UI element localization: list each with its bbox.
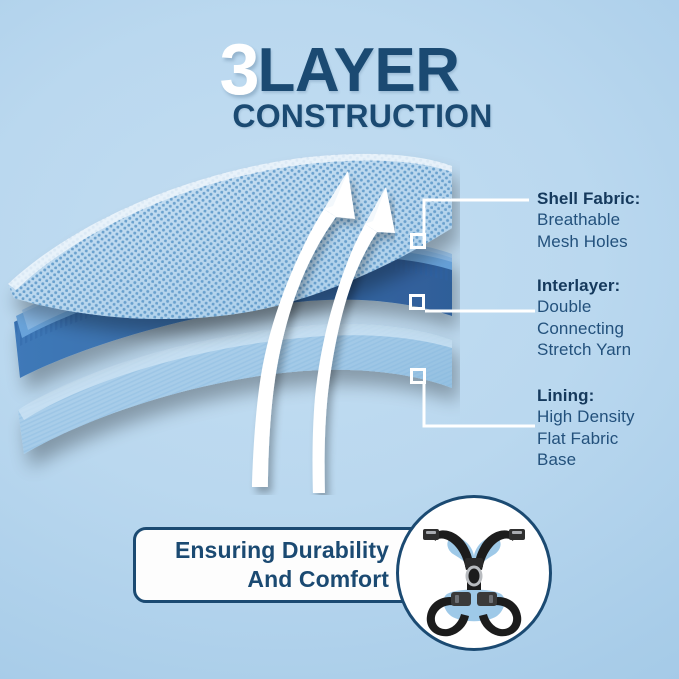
square-marker-icon-shell-fabric[interactable] [410, 233, 426, 249]
callout-connector-lining [417, 382, 535, 430]
callout-title-shell-fabric: Shell Fabric: [537, 188, 679, 209]
callout-body-line-1-shell-fabric: Breathable [537, 209, 679, 230]
tagline-banner: Ensuring Durability And Comfort [133, 527, 435, 603]
title-main-line: 3LAYER [0, 34, 679, 106]
callout-body-line-2-interlayer: Connecting [537, 318, 679, 339]
layer-stack-illustration [0, 120, 460, 510]
tagline-text: Ensuring Durability And Comfort [165, 536, 403, 593]
callout-body-line-2-lining: Flat Fabric [537, 428, 679, 449]
callout-title-lining: Lining: [537, 385, 679, 406]
callout-body-line-2-shell-fabric: Mesh Holes [537, 231, 679, 252]
callout-body-line-3-interlayer: Stretch Yarn [537, 339, 679, 360]
dog-harness-image [399, 498, 549, 648]
harness-graphic [423, 529, 525, 636]
callout-text-interlayer: Interlayer: Double Connecting Stretch Ya… [537, 275, 679, 361]
tagline-line-2: And Comfort [175, 565, 389, 594]
page-title: 3LAYER CONSTRUCTION [0, 34, 679, 132]
callout-connector-shell-fabric [417, 196, 529, 244]
square-marker-icon-interlayer[interactable] [409, 294, 425, 310]
callout-title-interlayer: Interlayer: [537, 275, 679, 296]
title-word: LAYER [258, 36, 460, 105]
callout-body-line-1-lining: High Density [537, 406, 679, 427]
callout-text-shell-fabric: Shell Fabric: Breathable Mesh Holes [537, 188, 679, 252]
callout-body-line-1-interlayer: Double [537, 296, 679, 317]
product-badge [396, 495, 552, 651]
infographic-canvas: 3LAYER CONSTRUCTION [0, 0, 679, 679]
square-marker-icon-lining[interactable] [410, 368, 426, 384]
callout-body-line-3-lining: Base [537, 449, 679, 470]
callout-connector-interlayer [425, 300, 535, 304]
tagline-line-1: Ensuring Durability [175, 537, 389, 563]
callout-text-lining: Lining: High Density Flat Fabric Base [537, 385, 679, 471]
